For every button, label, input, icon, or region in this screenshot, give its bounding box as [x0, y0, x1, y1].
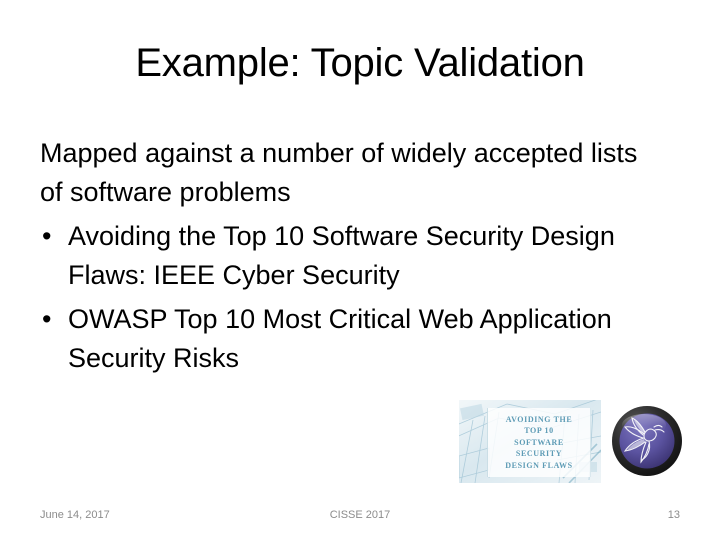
ieee-cover-image: AVOIDING THE TOP 10 SOFTWARE SECURITY DE… [459, 400, 601, 483]
bullet-item-label: OWASP Top 10 Most Critical Web Applicati… [68, 304, 612, 373]
bullet-marker-icon: • [42, 300, 51, 339]
bullet-item-owasp: • OWASP Top 10 Most Critical Web Applica… [40, 300, 674, 378]
bullet-item-ieee: • Avoiding the Top 10 Software Security … [40, 217, 674, 295]
ieee-cover-line: SECURITY [516, 448, 562, 460]
bullet-item-label: Avoiding the Top 10 Software Security De… [68, 221, 615, 290]
ieee-cover-line: TOP 10 [524, 425, 553, 437]
ieee-cover-line: AVOIDING THE [506, 414, 573, 426]
footer-conference: CISSE 2017 [40, 508, 680, 522]
footer-page-number: 13 [668, 508, 680, 522]
slide-footer: June 14, 2017 CISSE 2017 13 [40, 508, 680, 528]
owasp-logo-icon [611, 405, 683, 477]
ieee-cover-text-panel: AVOIDING THE TOP 10 SOFTWARE SECURITY DE… [487, 408, 591, 477]
ieee-cover-line: DESIGN FLAWS [505, 460, 572, 472]
bullet-list: • Avoiding the Top 10 Software Security … [40, 217, 674, 378]
ieee-cover-line: SOFTWARE [514, 437, 564, 449]
bullet-marker-icon: • [42, 217, 51, 256]
lead-paragraph: Mapped against a number of widely accept… [40, 134, 652, 212]
presentation-slide: Example: Topic Validation Mapped against… [0, 0, 720, 540]
slide-body: Mapped against a number of widely accept… [40, 134, 674, 383]
slide-title: Example: Topic Validation [40, 40, 680, 86]
